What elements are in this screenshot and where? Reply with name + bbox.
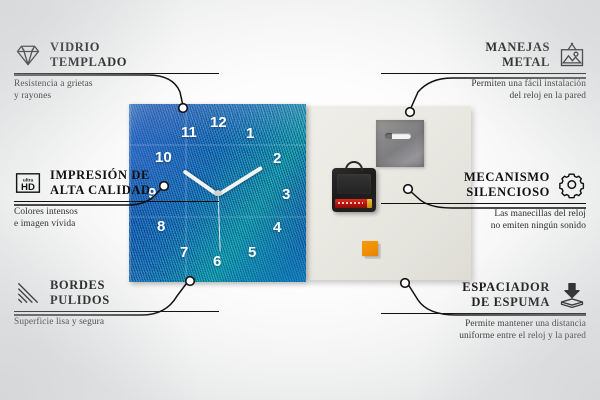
- feature-desc-line1: Permite mantener una distancia: [381, 318, 586, 330]
- numeral-2: 2: [273, 151, 281, 166]
- feature-title-line2: TEMPLADO: [50, 55, 127, 70]
- feature-title-line1: MANEJAS: [485, 40, 550, 55]
- feature-desc-line1: Superficie lisa y segura: [14, 316, 219, 328]
- feature-desc-line1: Las manecillas del reloj: [381, 208, 586, 220]
- feature-bordes-pulidos: BORDES PULIDOS Superficie lisa y segura: [14, 278, 219, 328]
- feature-vidrio-templado: VIDRIO TEMPLADO Resistencia a grietas y …: [14, 40, 219, 103]
- feature-desc-line2: no emiten ningún sonido: [381, 220, 586, 232]
- numeral-3: 3: [282, 187, 290, 202]
- foam-spacer: [362, 241, 378, 256]
- feature-divider: [14, 201, 219, 202]
- feature-desc-line1: Permiten una fácil instalación: [381, 78, 586, 90]
- numeral-7: 7: [180, 245, 188, 260]
- numeral-11: 11: [181, 125, 197, 140]
- feature-divider: [381, 73, 586, 74]
- feature-manejas-metal: MANEJAS METAL Permiten una fácil instala…: [381, 40, 586, 103]
- mechanism-plate: [337, 174, 371, 194]
- feature-desc-line2: uniforme entre el reloj y la pared: [381, 330, 586, 342]
- feature-title-line1: IMPRESIÓN DE: [50, 168, 151, 183]
- numeral-6: 6: [213, 254, 221, 269]
- metal-hanger-plate: [376, 120, 424, 167]
- feature-title-line2: METAL: [485, 55, 550, 70]
- feature-title-line1: ESPACIADOR: [462, 280, 550, 295]
- feature-impresion-alta-calidad: ultra HD IMPRESIÓN DE ALTA CALIDAD Color…: [14, 168, 219, 231]
- feature-title-line1: BORDES: [50, 278, 110, 293]
- hanger-slot: [385, 133, 411, 139]
- numeral-5: 5: [248, 245, 256, 260]
- feature-title-line1: MECANISMO: [464, 170, 550, 185]
- arrow-down-onto-layer-icon: [558, 281, 586, 309]
- feature-desc-line1: Resistencia a grietas: [14, 78, 219, 90]
- feature-title-line2: DE ESPUMA: [462, 295, 550, 310]
- battery-label: [338, 202, 363, 204]
- feature-divider: [381, 203, 586, 204]
- silent-quartz-mechanism: [332, 168, 376, 212]
- feature-title-line1: VIDRIO: [50, 40, 127, 55]
- battery: [335, 199, 369, 208]
- feature-title-line2: SILENCIOSO: [464, 185, 550, 200]
- infographic-canvas: 12 1 2 3 4 5 6 7 8 9 10 11: [0, 0, 600, 400]
- feature-title-line2: ALTA CALIDAD: [50, 183, 151, 198]
- gear-icon: [558, 171, 586, 199]
- feature-desc-line1: Colores intensos: [14, 206, 219, 218]
- ultra-hd-large-text: HD: [21, 182, 35, 193]
- feature-mecanismo-silencioso: MECANISMO SILENCIOSO Las manecillas del …: [381, 170, 586, 233]
- feature-desc-line2: y rayones: [14, 90, 219, 102]
- feature-espaciador-de-espuma: ESPACIADOR DE ESPUMA Permite mantener un…: [381, 280, 586, 343]
- mechanism-hook: [345, 161, 363, 171]
- feature-title-line2: PULIDOS: [50, 293, 110, 308]
- polished-edge-icon: [14, 279, 42, 307]
- feature-desc-line2: e imagen vívida: [14, 218, 219, 230]
- feature-divider: [14, 73, 219, 74]
- feature-divider: [14, 311, 219, 312]
- ultra-hd-icon: ultra HD: [14, 169, 42, 197]
- diamond-icon: [14, 41, 42, 69]
- wall-hanging-frame-icon: [558, 41, 586, 69]
- numeral-1: 1: [246, 126, 254, 141]
- numeral-12: 12: [210, 115, 227, 130]
- feature-divider: [381, 313, 586, 314]
- numeral-10: 10: [155, 150, 172, 165]
- feature-desc-line2: del reloj en la pared: [381, 90, 586, 102]
- numeral-4: 4: [273, 220, 281, 235]
